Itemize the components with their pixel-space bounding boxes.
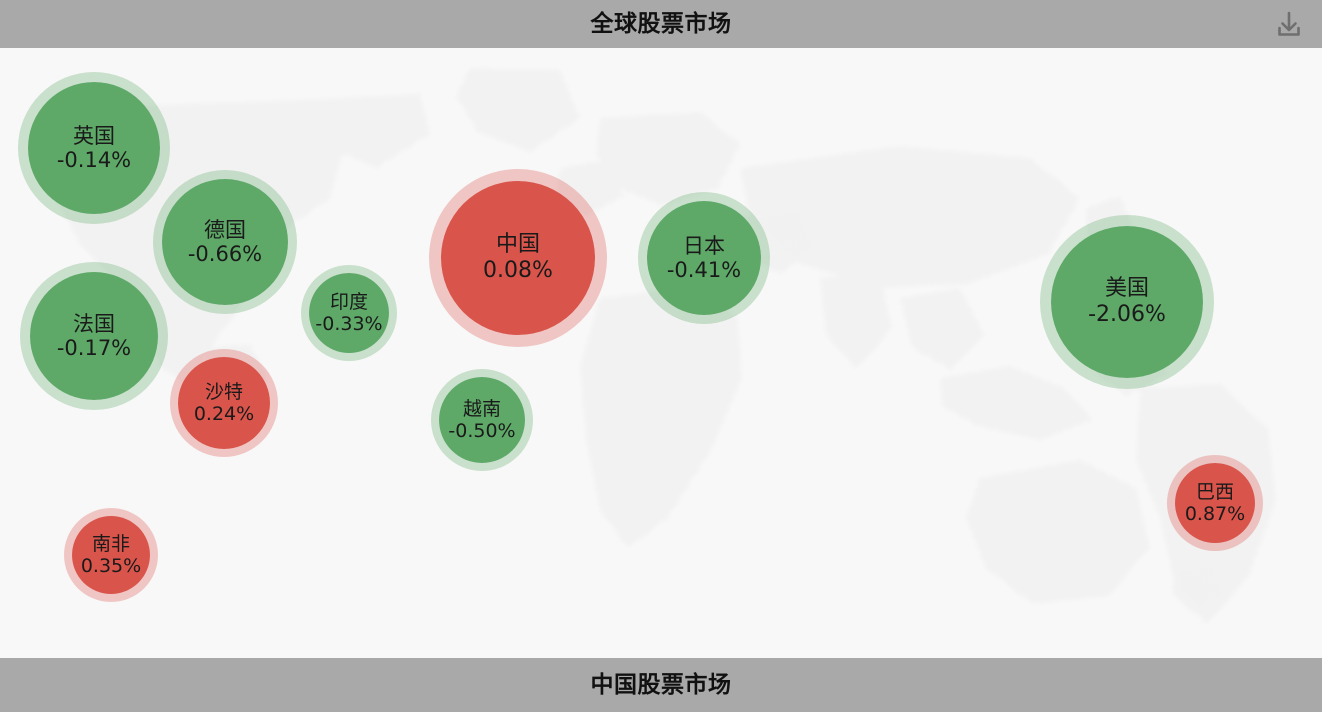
bubble-change-value: -0.17% [57, 336, 131, 360]
bubble-change-value: -0.66% [188, 242, 262, 266]
bubble-country-label: 巴西 [1196, 481, 1234, 503]
footer-title: 中国股票市场 [591, 674, 732, 697]
map-canvas: 英国-0.14%德国-0.66%法国-0.17%印度-0.33%沙特0.24%中… [0, 48, 1322, 658]
page-title: 全球股票市场 [591, 13, 732, 36]
market-bubble[interactable]: 沙特0.24% [170, 349, 278, 457]
bubble-change-value: -0.41% [667, 258, 741, 282]
market-bubble[interactable]: 南非0.35% [64, 508, 158, 602]
bubble-change-value: -0.33% [315, 313, 382, 335]
bubble-change-value: 0.35% [81, 555, 141, 577]
bubble-country-label: 沙特 [205, 381, 243, 403]
bubble-change-value: 0.87% [1185, 503, 1245, 525]
market-bubble[interactable]: 英国-0.14% [18, 72, 170, 224]
bubble-country-label: 法国 [73, 312, 115, 336]
market-bubble[interactable]: 中国0.08% [429, 169, 607, 347]
bubble-change-value: -0.50% [448, 420, 515, 442]
header-bar: 全球股票市场 [0, 0, 1322, 48]
market-bubble[interactable]: 印度-0.33% [301, 265, 397, 361]
bubble-change-value: -2.06% [1088, 302, 1166, 328]
bubble-country-label: 中国 [496, 232, 540, 258]
bubble-change-value: 0.08% [483, 258, 553, 284]
bubble-country-label: 日本 [683, 234, 725, 258]
bubble-country-label: 德国 [204, 218, 246, 242]
market-bubble[interactable]: 法国-0.17% [20, 262, 168, 410]
bubble-change-value: -0.14% [57, 148, 131, 172]
market-bubble[interactable]: 越南-0.50% [431, 369, 533, 471]
footer-bar: 中国股票市场 [0, 658, 1322, 712]
market-bubble[interactable]: 美国-2.06% [1040, 215, 1214, 389]
bubble-country-label: 印度 [330, 291, 368, 313]
bubble-country-label: 南非 [92, 533, 130, 555]
bubble-country-label: 英国 [73, 124, 115, 148]
bubble-country-label: 越南 [463, 398, 501, 420]
market-bubble[interactable]: 日本-0.41% [638, 192, 770, 324]
market-bubble[interactable]: 巴西0.87% [1167, 455, 1263, 551]
download-icon[interactable] [1272, 7, 1306, 41]
global-stock-market-bubble-map: 全球股票市场 [0, 0, 1322, 712]
bubble-change-value: 0.24% [194, 403, 254, 425]
bubble-country-label: 美国 [1105, 276, 1149, 302]
market-bubble[interactable]: 德国-0.66% [153, 170, 297, 314]
